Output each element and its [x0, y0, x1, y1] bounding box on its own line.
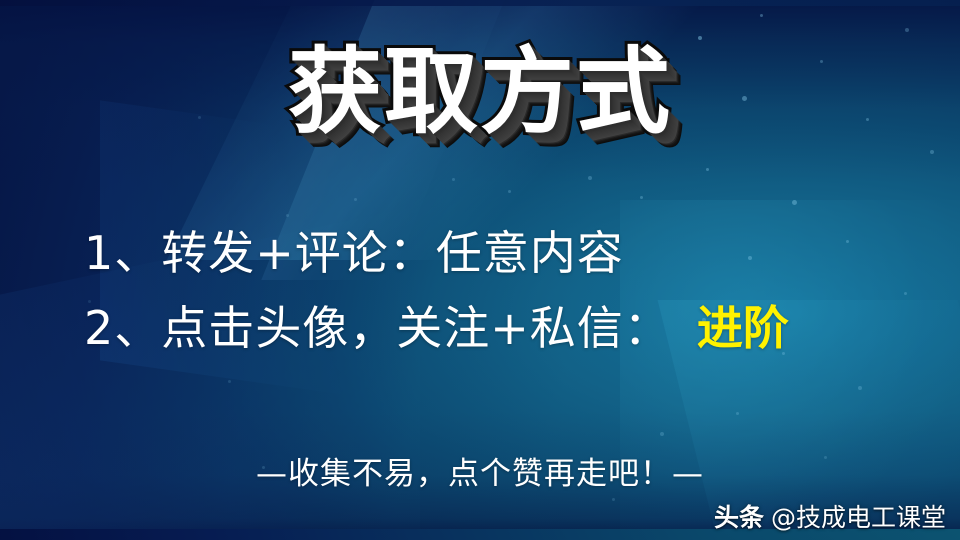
- watermark-brand: 头条: [714, 498, 764, 534]
- presentation-slide: 获取方式 1、转发+评论：任意内容 2、点击头像，关注+私信：进阶 —收集不易，…: [0, 0, 960, 540]
- background-top-band: [0, 0, 960, 6]
- watermark-handle: @技成电工课堂: [771, 498, 946, 534]
- background-bottom-shade: [0, 0, 960, 540]
- watermark: 头条 @技成电工课堂: [714, 498, 946, 534]
